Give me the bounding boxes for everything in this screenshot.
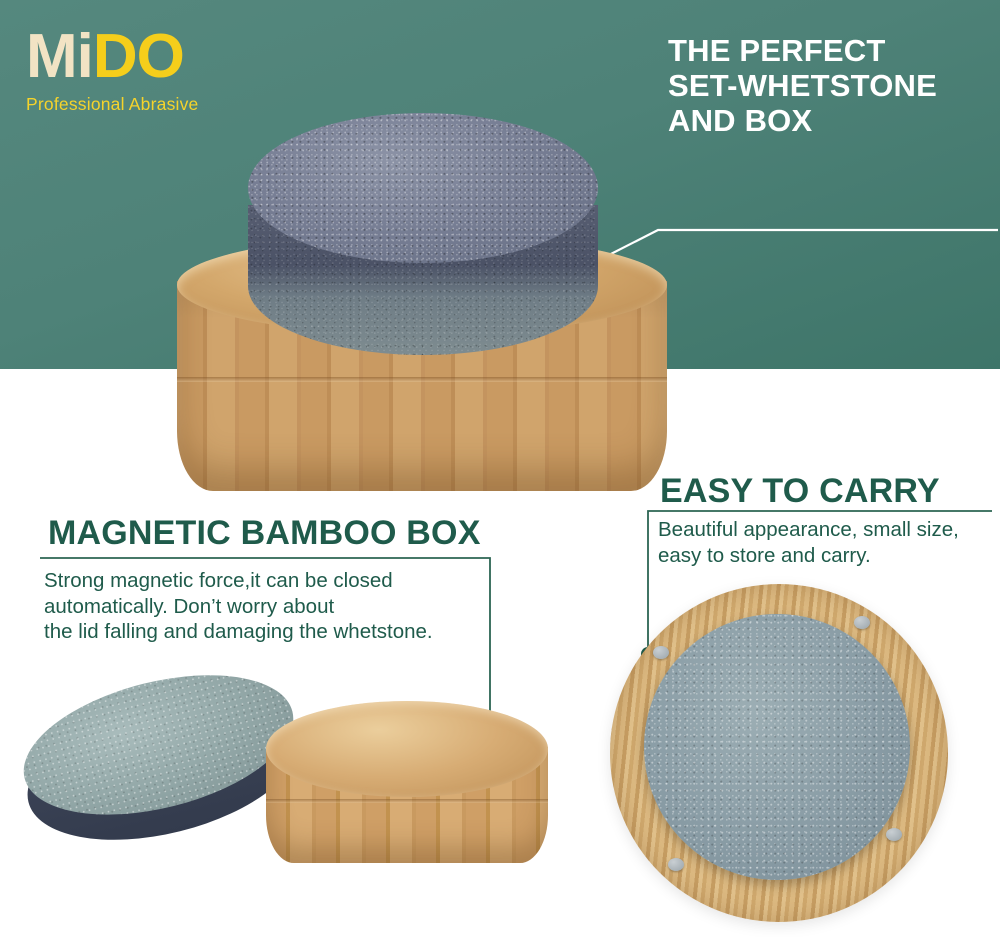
easy-carry-title: EASY TO CARRY	[660, 472, 940, 511]
magnetic-box-body: Strong magnetic force,it can be closed a…	[44, 568, 494, 645]
magnetic-box-body-line-1: Strong magnetic force,it can be closed	[44, 568, 494, 594]
headline-line-3: AND BOX	[668, 103, 990, 138]
closed-box-lid	[266, 701, 548, 797]
easy-carry-body-line-2: easy to store and carry.	[658, 543, 988, 569]
page-headline: THE PERFECT SET-WHETSTONE AND BOX	[668, 33, 990, 138]
lower-left-product-image	[18, 655, 548, 930]
logo-wordmark: MiDO	[26, 26, 236, 88]
easy-carry-body: Beautiful appearance, small size, easy t…	[658, 517, 988, 568]
whetstone-top-surface	[248, 113, 598, 263]
magnet-dot-1	[653, 646, 669, 659]
magnet-dot-2	[854, 616, 870, 629]
whetstone-seated-in-box	[644, 614, 910, 880]
magnet-dot-3	[886, 828, 902, 841]
magnet-dot-4	[668, 858, 684, 871]
magnetic-box-title: MAGNETIC BAMBOO BOX	[48, 514, 481, 553]
logo-text-mi: Mi	[26, 22, 93, 91]
easy-carry-body-line-1: Beautiful appearance, small size,	[658, 517, 988, 543]
product-infographic: MiDO Professional Abrasive THE PERFECT S…	[0, 0, 1000, 937]
magnetic-box-body-line-2: automatically. Don’t worry about	[44, 594, 494, 620]
headline-line-2: SET-WHETSTONE	[668, 68, 990, 103]
hero-product-image	[150, 85, 690, 505]
closed-bamboo-box	[266, 701, 548, 891]
logo-text-do: DO	[93, 22, 184, 91]
headline-line-1: THE PERFECT	[668, 33, 990, 68]
lower-right-product-image	[596, 578, 996, 928]
